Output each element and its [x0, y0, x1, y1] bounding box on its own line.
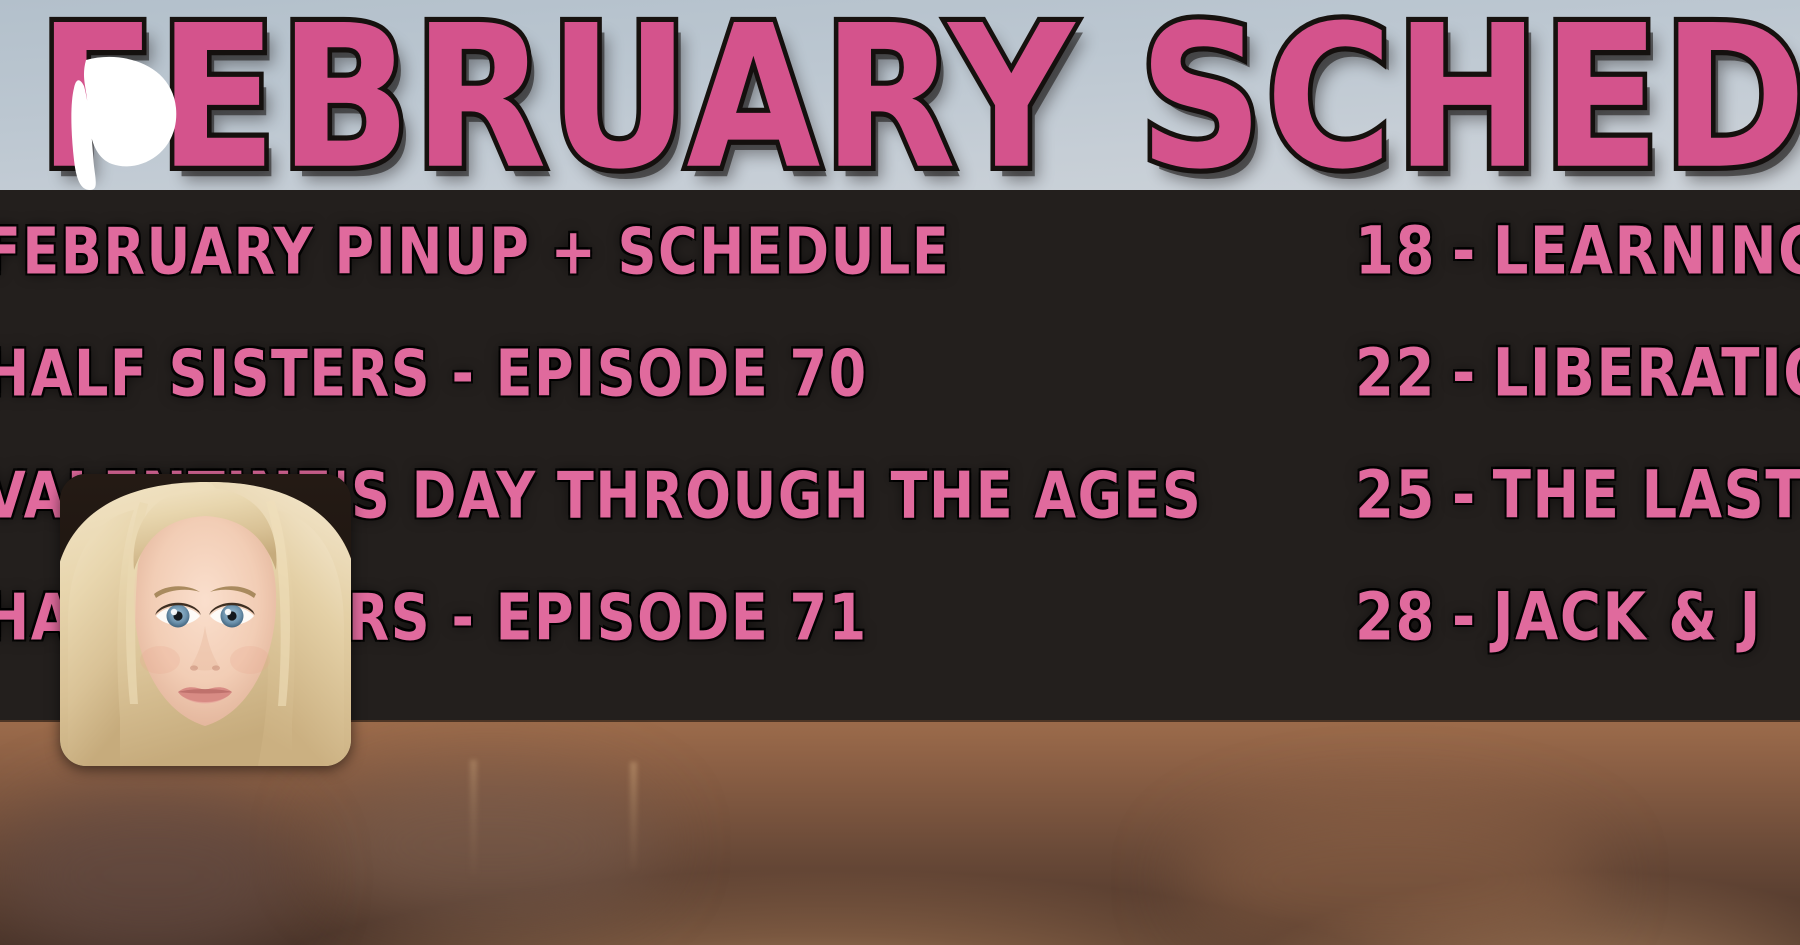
schedule-item-right-2: 22 - LIBERATIO: [1355, 312, 1800, 434]
schedule-item-right-1: 18 - LEARNING: [1355, 190, 1800, 312]
header-banner: FEBRUARY SCHEDU: [0, 0, 1800, 192]
face-thumbnail-image: [60, 474, 351, 766]
schedule-item-day: 25: [1355, 457, 1436, 534]
schedule-item-left-1: FEBRUARY PINUP + SCHEDULE: [0, 190, 1154, 312]
schedule-item-left-2: HALF SISTERS - EPISODE 70: [0, 312, 1154, 434]
schedule-item-right-3: 25 - THE LAST: [1355, 434, 1800, 556]
schedule-item-day: 18: [1355, 213, 1436, 290]
schedule-item-separator: -: [1452, 213, 1477, 290]
schedule-item-label: LIBERATIO: [1493, 335, 1800, 412]
screenshot-stage: FEBRUARY SCHEDU FEBRUARY PINUP + SCHEDUL…: [0, 0, 1800, 945]
schedule-item-label: THE LAST: [1493, 457, 1800, 534]
schedule-item-label: HALF SISTERS - EPISODE 70: [0, 336, 868, 410]
schedule-item-separator: -: [1452, 457, 1477, 534]
page-title: FEBRUARY SCHEDU: [38, 0, 1800, 192]
backdrop-blur-blob: [0, 790, 300, 945]
schedule-right-column: 18 - LEARNING 22 - LIBERATIO 25 - THE LA…: [1355, 190, 1800, 678]
patreon-logo[interactable]: [68, 56, 180, 191]
schedule-item-day: 28: [1355, 579, 1436, 656]
schedule-item-day: 22: [1355, 335, 1436, 412]
schedule-item-label: JACK & J: [1493, 579, 1762, 656]
schedule-item-label: FEBRUARY PINUP + SCHEDULE: [0, 214, 950, 288]
schedule-item-separator: -: [1452, 335, 1477, 412]
schedule-item-label: LEARNING: [1493, 213, 1800, 290]
schedule-item-separator: -: [1452, 579, 1477, 656]
schedule-item-right-4: 28 - JACK & J: [1355, 556, 1800, 678]
backdrop-blur-blob: [320, 770, 660, 920]
backdrop-blur-blob: [1180, 800, 1600, 945]
face-thumbnail[interactable]: [60, 474, 351, 766]
